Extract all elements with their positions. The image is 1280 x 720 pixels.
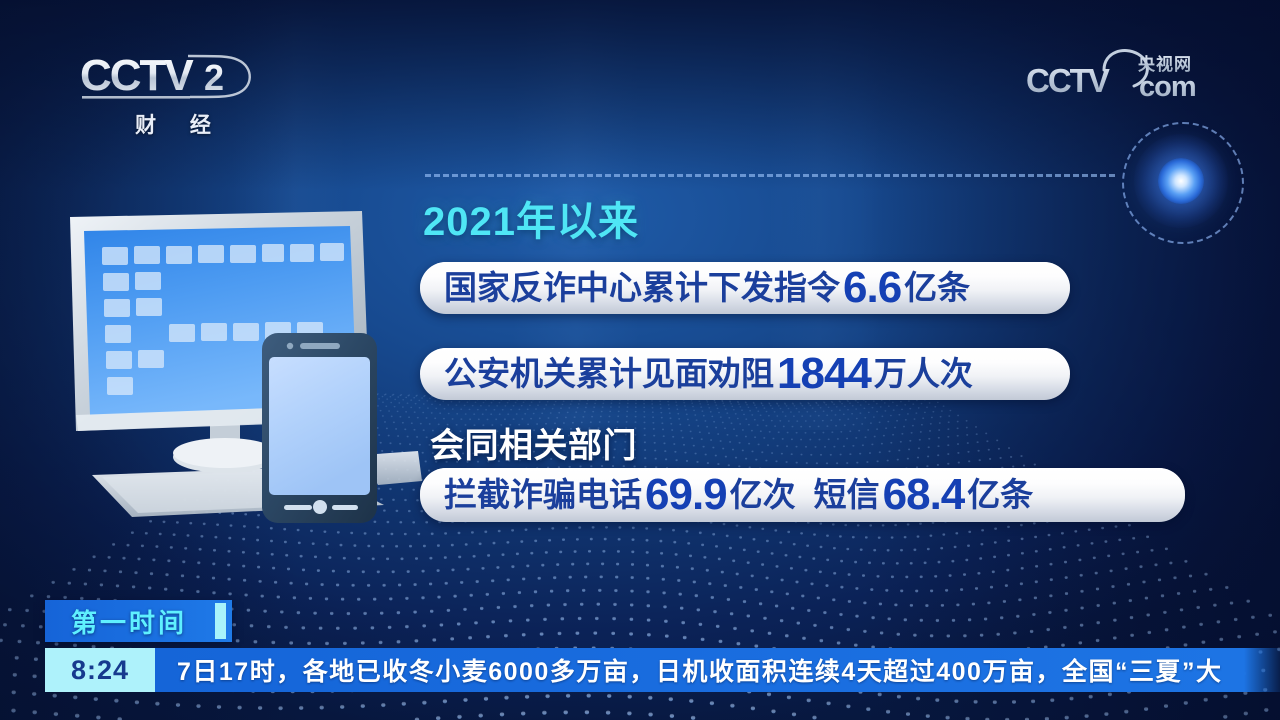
program-banner: 第一时间: [45, 600, 232, 642]
blocked-label-after: 亿条: [967, 478, 1033, 511]
blocked-value-calls: 69.9: [642, 470, 730, 520]
cctv2-channel-logo: CCTV 2 财 经: [78, 48, 268, 139]
device-illustration: [62, 205, 422, 535]
program-name: 第一时间: [71, 603, 215, 640]
svg-text:2: 2: [204, 57, 224, 98]
monitor-stand: [173, 423, 277, 473]
dashed-connector-line: [425, 174, 1115, 177]
stat-label-before: 公安机关累计见面劝阻: [444, 357, 774, 390]
cctv-com-logo: CCTV com 央视网: [1026, 44, 1212, 106]
stat-label-before: 国家反诈中心累计下发指令: [444, 271, 840, 304]
news-ticker: 8:24 7日17时，各地已收冬小麦6000多万亩，日机收面积连续4天超过400…: [45, 648, 1280, 692]
blocked-label-mid: 亿次: [730, 478, 796, 511]
svg-text:com: com: [1139, 71, 1196, 103]
blocked-value-sms: 68.4: [880, 470, 968, 520]
ticker-headline: 7日17时，各地已收冬小麦6000多万亩，日机收面积连续4天超过400万亩，全国…: [155, 648, 1244, 692]
glowing-orb-decoration: [1098, 118, 1280, 243]
stat-bar-directives: 国家反诈中心累计下发指令6.6亿条: [420, 262, 1070, 314]
blocked-label-before: 拦截诈骗电话: [444, 478, 642, 511]
svg-text:CCTV: CCTV: [80, 51, 194, 100]
svg-text:央视网: 央视网: [1138, 54, 1192, 74]
broadcast-screen: CCTV 2 财 经 CCTV com 央视网: [0, 0, 1280, 720]
smartphone-icon: [262, 333, 377, 523]
stat-value: 6.6: [840, 263, 904, 313]
stat-bar-interventions: 公安机关累计见面劝阻1844万人次: [420, 348, 1070, 400]
stat-bar-blocked: 拦截诈骗电话69.9亿次短信68.4亿条: [420, 468, 1185, 522]
page-title: 2021年以来: [423, 189, 639, 247]
cctv2-wordmark-icon: CCTV 2: [78, 48, 268, 106]
svg-text:CCTV: CCTV: [1026, 62, 1110, 99]
stat-label-after: 亿条: [904, 271, 970, 304]
stat-label-after: 万人次: [874, 357, 973, 390]
channel-subtitle: 财 经: [78, 109, 268, 139]
cctv-com-wordmark-icon: CCTV com 央视网: [1026, 44, 1212, 106]
ticker-clock: 8:24: [45, 648, 155, 692]
ticker-fade-tail: [1244, 648, 1280, 692]
orb-core-icon: [1158, 158, 1204, 204]
section-subheading: 会同相关部门: [430, 418, 637, 467]
blocked-label-sms: 短信: [814, 478, 880, 511]
stat-value: 1844: [774, 349, 874, 399]
program-accent-bar: [215, 603, 226, 639]
